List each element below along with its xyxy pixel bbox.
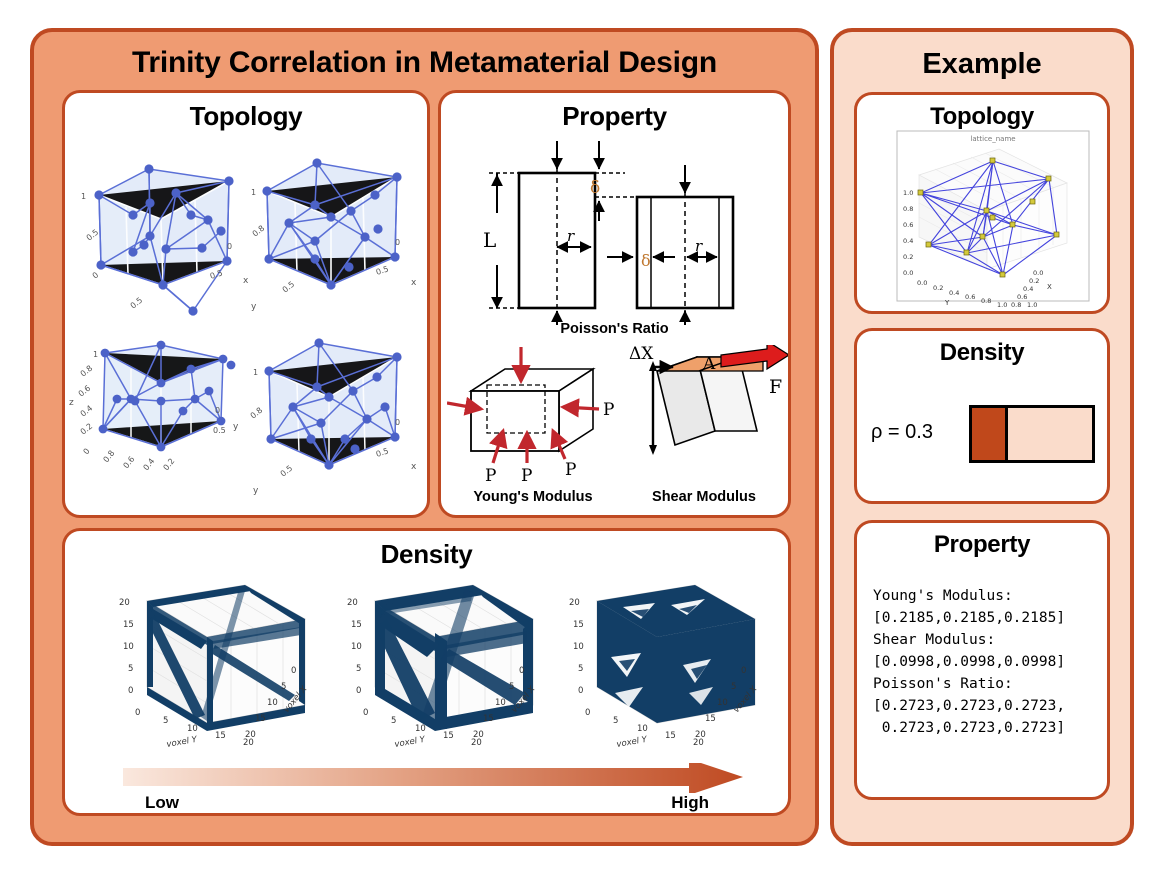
- svg-text:0.6: 0.6: [77, 384, 93, 399]
- svg-text:0: 0: [578, 686, 583, 696]
- svg-text:r: r: [695, 237, 703, 255]
- example-density-card: Density ρ = 0.3: [854, 328, 1110, 504]
- svg-text:0: 0: [585, 708, 590, 718]
- svg-text:5: 5: [731, 682, 736, 692]
- svg-text:1: 1: [253, 368, 258, 377]
- topology-plot-4: 1 0.8 0.5 y 0 0.5 x: [245, 329, 429, 518]
- figure-root: Trinity Correlation in Metamaterial Desi…: [0, 0, 1162, 874]
- svg-text:0.2: 0.2: [79, 422, 95, 437]
- topology-plot-3: 1 0.8 0.6 0.4 0.2 z 0 0.8 0.6 0.4 0.2 0: [65, 329, 249, 518]
- svg-text:0: 0: [227, 242, 232, 251]
- svg-text:20: 20: [347, 598, 358, 608]
- svg-text:0.8: 0.8: [79, 364, 95, 379]
- svg-text:5: 5: [613, 716, 618, 726]
- svg-text:20: 20: [245, 730, 256, 740]
- svg-text:voxel Y: voxel Y: [394, 735, 427, 750]
- shear-modulus-caption: Shear Modulus: [621, 489, 787, 505]
- svg-text:δ: δ: [590, 178, 600, 198]
- svg-text:15: 15: [255, 714, 266, 724]
- svg-text:0.8: 0.8: [1011, 301, 1021, 309]
- svg-text:x: x: [411, 462, 417, 472]
- rho-value-text: ρ = 0.3: [871, 421, 933, 443]
- svg-text:5: 5: [509, 682, 514, 692]
- svg-text:10: 10: [351, 642, 362, 652]
- svg-text:10: 10: [415, 724, 426, 734]
- topology-card: Topology: [62, 90, 430, 518]
- svg-text:1.0: 1.0: [997, 301, 1007, 309]
- svg-text:y: y: [253, 486, 259, 496]
- svg-text:0: 0: [215, 406, 220, 415]
- main-title: Trinity Correlation in Metamaterial Desi…: [34, 46, 815, 80]
- gradient-high-label: High: [671, 793, 709, 813]
- svg-text:20: 20: [569, 598, 580, 608]
- svg-text:0: 0: [363, 708, 368, 718]
- svg-text:X: X: [1047, 283, 1052, 291]
- svg-text:0.0: 0.0: [903, 269, 913, 277]
- svg-text:0.2: 0.2: [161, 457, 176, 473]
- svg-text:voxel Y: voxel Y: [616, 735, 649, 750]
- example-topology-plot: lattice_name: [871, 127, 1099, 309]
- svg-text:1: 1: [251, 188, 256, 197]
- svg-text:0.5: 0.5: [213, 426, 226, 435]
- density-voxel-row: 2015 1050 05 101520 voxel Y 05 101520 vo…: [65, 575, 788, 755]
- example-panel: Example Topology lattice_name: [830, 28, 1134, 846]
- svg-text:5: 5: [163, 716, 168, 726]
- svg-text:δ: δ: [641, 251, 651, 270]
- svg-text:P: P: [565, 460, 576, 480]
- gradient-low-label: Low: [145, 793, 179, 813]
- svg-text:0.5: 0.5: [279, 464, 295, 479]
- svg-text:0: 0: [128, 686, 133, 696]
- svg-text:0.4: 0.4: [903, 237, 913, 245]
- density-voxel-low: 2015 1050 05 101520 voxel Y 05 101520 vo…: [95, 575, 331, 755]
- svg-text:0.4: 0.4: [1023, 285, 1033, 293]
- svg-text:z: z: [69, 398, 74, 408]
- svg-text:0.4: 0.4: [79, 404, 95, 419]
- property-card-title: Property: [441, 101, 788, 132]
- density-card-title: Density: [65, 539, 788, 570]
- example-property-values: Young's Modulus: [0.2185,0.2185,0.2185] …: [873, 585, 1101, 739]
- svg-text:A: A: [702, 354, 716, 374]
- svg-text:0.5: 0.5: [209, 268, 224, 280]
- svg-text:0.5: 0.5: [375, 264, 390, 276]
- svg-text:0.8: 0.8: [101, 449, 116, 465]
- gradient-arrow: [123, 763, 743, 793]
- svg-text:0.4: 0.4: [141, 457, 156, 473]
- svg-text:0.0: 0.0: [1033, 269, 1043, 277]
- svg-text:ΔX: ΔX: [629, 345, 654, 364]
- svg-text:0.2: 0.2: [933, 284, 943, 292]
- svg-text:0.6: 0.6: [1017, 293, 1027, 301]
- svg-text:1.0: 1.0: [903, 189, 913, 197]
- rho-label: ρ = 0.3: [871, 421, 933, 444]
- density-voxel-mid: 2015 1050 05 101520 voxel Y 05 101520 vo…: [323, 575, 559, 755]
- svg-text:0.5: 0.5: [85, 228, 101, 243]
- svg-text:1: 1: [81, 192, 86, 201]
- example-property-card: Property Young's Modulus: [0.2185,0.2185…: [854, 520, 1110, 800]
- svg-text:0.5: 0.5: [281, 280, 297, 295]
- svg-text:x: x: [411, 278, 417, 288]
- moduli-diagrams: P P P P P P: [447, 345, 788, 493]
- svg-text:0: 0: [356, 686, 361, 696]
- svg-text:0.6: 0.6: [121, 455, 136, 471]
- svg-text:1.0: 1.0: [1027, 301, 1037, 309]
- svg-text:0: 0: [519, 666, 524, 676]
- svg-text:15: 15: [665, 731, 676, 741]
- svg-text:5: 5: [281, 682, 286, 692]
- svg-text:1: 1: [93, 350, 98, 359]
- svg-text:20: 20: [473, 730, 484, 740]
- density-card: Density: [62, 528, 791, 816]
- svg-text:0: 0: [135, 708, 140, 718]
- svg-text:0.6: 0.6: [903, 221, 913, 229]
- svg-text:0: 0: [291, 666, 296, 676]
- density-voxel-high: 2015 1050 05 101520 voxel Y 05 101520 vo…: [545, 575, 781, 755]
- svg-text:5: 5: [128, 664, 133, 674]
- svg-text:0.8: 0.8: [903, 205, 913, 213]
- svg-text:20: 20: [119, 598, 130, 608]
- svg-text:y: y: [251, 302, 257, 312]
- main-panel: Trinity Correlation in Metamaterial Desi…: [30, 28, 819, 846]
- density-gradient-legend: Low High: [123, 763, 743, 815]
- svg-text:0: 0: [395, 418, 400, 427]
- svg-text:0: 0: [395, 238, 400, 247]
- svg-text:0.5: 0.5: [129, 296, 145, 311]
- topology-card-title: Topology: [65, 101, 427, 132]
- svg-text:5: 5: [356, 664, 361, 674]
- svg-text:voxel Y: voxel Y: [166, 735, 199, 750]
- example-density-body: ρ = 0.3: [857, 387, 1107, 497]
- svg-text:0.4: 0.4: [949, 289, 959, 297]
- svg-text:15: 15: [483, 714, 494, 724]
- svg-text:20: 20: [695, 730, 706, 740]
- svg-text:0: 0: [741, 666, 746, 676]
- svg-text:10: 10: [573, 642, 584, 652]
- topology-plot-1: 1 0.5 0 0.5 0 0.5 x: [71, 133, 255, 327]
- svg-text:0.8: 0.8: [249, 406, 265, 421]
- svg-text:0.6: 0.6: [965, 293, 975, 301]
- svg-text:10: 10: [495, 698, 506, 708]
- svg-text:15: 15: [351, 620, 362, 630]
- svg-text:10: 10: [267, 698, 278, 708]
- example-property-title: Property: [857, 531, 1107, 559]
- topology-plot-2: 1 0.8 0.5 y 0 0.5 x: [245, 133, 429, 327]
- svg-text:5: 5: [391, 716, 396, 726]
- poisson-ratio-caption: Poisson's Ratio: [441, 321, 788, 337]
- example-panel-title: Example: [834, 48, 1130, 81]
- svg-text:10: 10: [187, 724, 198, 734]
- svg-text:P: P: [485, 466, 496, 486]
- svg-text:0.5: 0.5: [375, 446, 390, 458]
- svg-text:10: 10: [717, 698, 728, 708]
- svg-text:15: 15: [123, 620, 134, 630]
- density-bar-fill: [972, 408, 1008, 460]
- svg-text:L: L: [483, 228, 496, 252]
- svg-text:0.0: 0.0: [917, 279, 927, 287]
- svg-text:15: 15: [443, 731, 454, 741]
- svg-text:P: P: [513, 345, 524, 348]
- poisson-ratio-diagram: L r δ: [447, 135, 788, 325]
- svg-text:Y: Y: [944, 299, 950, 307]
- property-card: Property: [438, 90, 791, 518]
- svg-text:15: 15: [573, 620, 584, 630]
- svg-text:0.8: 0.8: [251, 224, 267, 239]
- example-topology-card: Topology lattice_name: [854, 92, 1110, 314]
- svg-text:0: 0: [81, 447, 91, 457]
- example-plot-title: lattice_name: [970, 135, 1015, 143]
- svg-text:0.2: 0.2: [1029, 277, 1039, 285]
- svg-text:0.2: 0.2: [903, 253, 913, 261]
- topology-plot-grid: 1 0.5 0 0.5 0 0.5 x: [65, 133, 427, 518]
- density-bar: [969, 405, 1095, 463]
- svg-text:5: 5: [578, 664, 583, 674]
- svg-text:y: y: [233, 422, 239, 432]
- svg-text:r: r: [567, 227, 575, 245]
- youngs-modulus-caption: Young's Modulus: [449, 489, 617, 505]
- svg-text:0: 0: [91, 270, 101, 280]
- svg-text:0.8: 0.8: [981, 297, 991, 305]
- svg-text:15: 15: [215, 731, 226, 741]
- svg-text:P: P: [521, 466, 532, 486]
- svg-text:10: 10: [123, 642, 134, 652]
- svg-text:10: 10: [637, 724, 648, 734]
- example-density-title: Density: [857, 339, 1107, 367]
- svg-text:F: F: [769, 376, 782, 398]
- svg-text:15: 15: [705, 714, 716, 724]
- svg-text:P: P: [603, 400, 614, 420]
